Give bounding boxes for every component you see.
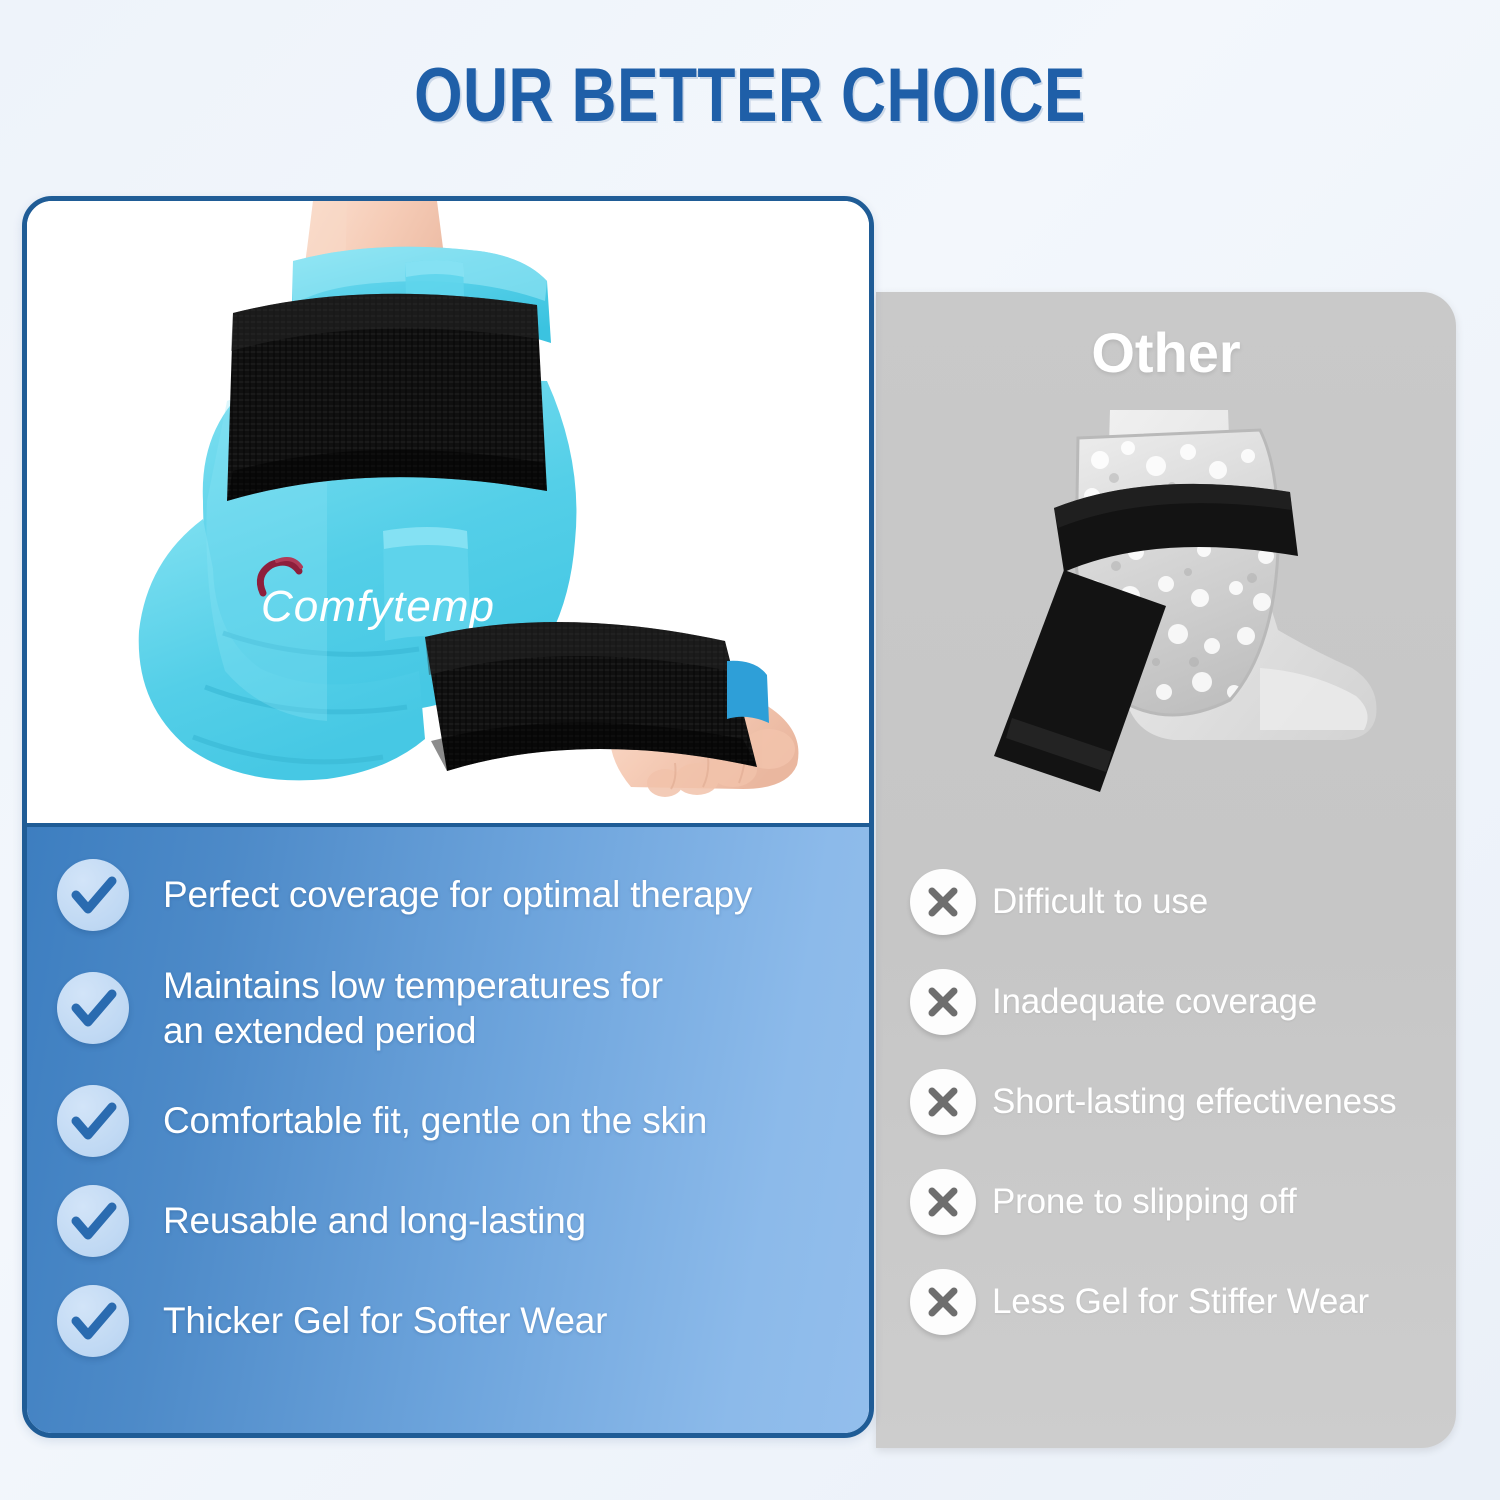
drawback-label: Difficult to use bbox=[992, 882, 1208, 922]
features-panel: Perfect coverage for optimal therapy Mai… bbox=[27, 823, 869, 1437]
list-item: Short-lasting effectiveness bbox=[910, 1052, 1456, 1152]
check-icon bbox=[57, 859, 129, 931]
other-panel-title: Other bbox=[876, 320, 1456, 385]
feature-label: Thicker Gel for Softer Wear bbox=[163, 1298, 607, 1343]
drawback-label: Inadequate coverage bbox=[992, 982, 1317, 1022]
feature-label: Comfortable fit, gentle on the skin bbox=[163, 1098, 707, 1143]
x-icon bbox=[910, 1169, 976, 1235]
drawback-label: Prone to slipping off bbox=[992, 1182, 1297, 1222]
list-item: Inadequate coverage bbox=[910, 952, 1456, 1052]
drawback-label: Less Gel for Stiffer Wear bbox=[992, 1282, 1369, 1322]
list-item: Maintains low temperatures for an extend… bbox=[57, 945, 857, 1071]
check-icon bbox=[57, 1085, 129, 1157]
list-item: Difficult to use bbox=[910, 852, 1456, 952]
list-item: Less Gel for Stiffer Wear bbox=[910, 1252, 1456, 1352]
list-item: Comfortable fit, gentle on the skin bbox=[57, 1071, 857, 1171]
x-icon bbox=[910, 869, 976, 935]
x-icon bbox=[910, 1069, 976, 1135]
list-item: Reusable and long-lasting bbox=[57, 1171, 857, 1271]
check-icon bbox=[57, 1185, 129, 1257]
feature-label: Maintains low temperatures for an extend… bbox=[163, 963, 663, 1053]
check-icon bbox=[57, 1285, 129, 1357]
feature-label: Perfect coverage for optimal therapy bbox=[163, 872, 752, 917]
svg-text:Comfytemp: Comfytemp bbox=[261, 582, 495, 631]
drawback-label: Short-lasting effectiveness bbox=[992, 1082, 1396, 1122]
list-item: Thicker Gel for Softer Wear bbox=[57, 1271, 857, 1371]
feature-label: Reusable and long-lasting bbox=[163, 1198, 586, 1243]
drawbacks-list: Difficult to use Inadequate coverage Sho… bbox=[910, 852, 1456, 1352]
other-product-photo bbox=[960, 400, 1390, 810]
x-icon bbox=[910, 1269, 976, 1335]
check-icon bbox=[57, 972, 129, 1044]
other-panel: Other bbox=[876, 292, 1456, 1448]
our-product-photo: Comfytemp bbox=[27, 201, 869, 823]
features-list: Perfect coverage for optimal therapy Mai… bbox=[57, 845, 857, 1371]
x-icon bbox=[910, 969, 976, 1035]
page-title: OUR BETTER CHOICE bbox=[135, 52, 1365, 139]
our-choice-card: Comfytemp Perfect coverage for optimal t… bbox=[22, 196, 874, 1438]
list-item: Prone to slipping off bbox=[910, 1152, 1456, 1252]
list-item: Perfect coverage for optimal therapy bbox=[57, 845, 857, 945]
